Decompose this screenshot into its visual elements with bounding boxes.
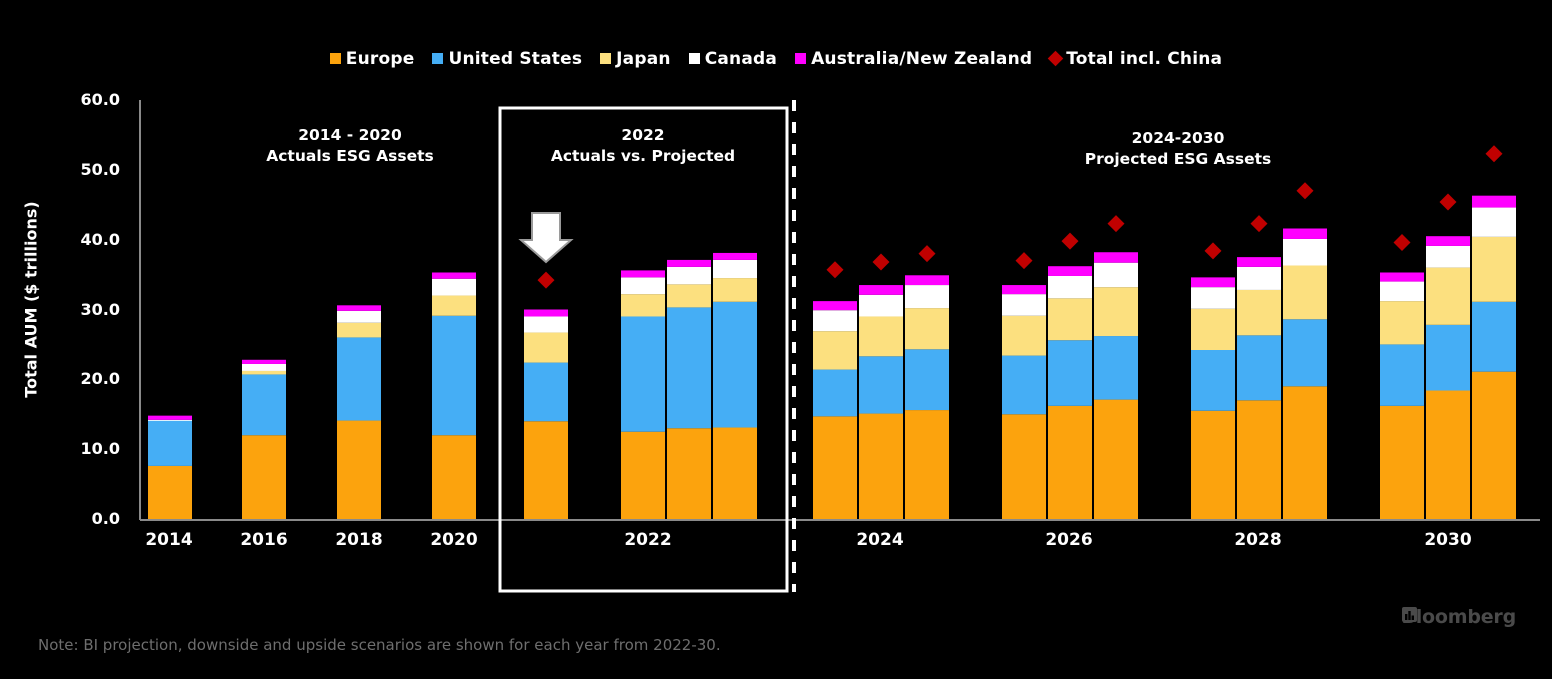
total-incl-china-marker-2024-upside [919, 245, 936, 262]
bar-segment-2030-upside-canada [1472, 208, 1516, 237]
bar-segment-2028-downside-japan [1191, 309, 1235, 350]
total-incl-china-marker-2030-upside [1486, 145, 1503, 162]
annotation-actuals-vs-projected-2022: 2022 Actuals vs. Projected [473, 125, 813, 167]
bar-segment-2018-actual-united-states [337, 337, 381, 420]
bar-segment-2026-downside-europe [1002, 414, 1046, 519]
bar-segment-2022-actual-japan [524, 333, 568, 363]
bar-segment-2028-upside-australia-new-zealand [1283, 228, 1327, 238]
bar-segment-2026-downside-united-states [1002, 356, 1046, 415]
x-tick-2020: 2020 [394, 530, 514, 550]
bar-segment-2028-projection-japan [1237, 290, 1281, 335]
x-tick-2024: 2024 [820, 530, 940, 550]
bar-segment-2030-upside-japan [1472, 237, 1516, 302]
total-incl-china-marker-2026-projection [1062, 233, 1079, 250]
bar-segment-2026-projection-australia-new-zealand [1048, 266, 1092, 276]
bar-segment-2022-upside-canada [713, 260, 757, 278]
bar-segment-2026-downside-japan [1002, 316, 1046, 356]
bar-segment-2022-downside-canada [621, 277, 665, 294]
bar-segment-2022-upside-united-states [713, 302, 757, 428]
bar-segment-2024-downside-canada [813, 310, 857, 331]
x-tick-2030: 2030 [1388, 530, 1508, 550]
bar-segment-2022-actual-canada [524, 316, 568, 332]
bar-segment-2026-projection-europe [1048, 406, 1092, 519]
bar-segment-2026-upside-europe [1094, 400, 1138, 519]
bar-segment-2016-actual-australia-new-zealand [242, 360, 286, 364]
bar-segment-2030-downside-canada [1380, 282, 1424, 302]
bar-segment-2020-actual-japan [432, 296, 476, 316]
y-tick-20.0: 20.0 [10, 369, 120, 388]
bloomberg-watermark: Bloomberg [1401, 606, 1522, 628]
bar-segment-2030-projection-australia-new-zealand [1426, 236, 1470, 246]
total-incl-china-marker-2022-actual [538, 272, 555, 289]
bar-segment-2022-downside-japan [621, 294, 665, 316]
total-incl-china-marker-2024-projection [873, 254, 890, 271]
x-tick-2026: 2026 [1009, 530, 1129, 550]
annotation-projected-2024-2030: 2024-2030 Projected ESG Assets [1008, 128, 1348, 170]
bar-segment-2024-downside-japan [813, 331, 857, 369]
down-arrow-icon [521, 213, 571, 262]
bar-segment-2018-actual-japan [337, 323, 381, 338]
y-tick-0.0: 0.0 [10, 509, 120, 528]
y-tick-40.0: 40.0 [10, 230, 120, 249]
annotation-actuals-2014-2020: 2014 - 2020 Actuals ESG Assets [180, 125, 520, 167]
total-incl-china-marker-2024-downside [827, 261, 844, 278]
bar-segment-2014-actual-australia-new-zealand [148, 416, 192, 420]
total-incl-china-marker-2028-downside [1205, 242, 1222, 259]
bloomberg-wordmark: Bloomberg [1401, 606, 1516, 628]
bar-segment-2030-downside-japan [1380, 301, 1424, 344]
bar-segment-2022-actual-united-states [524, 363, 568, 422]
total-incl-china-marker-2026-upside [1108, 215, 1125, 232]
bar-segment-2024-downside-united-states [813, 370, 857, 417]
bar-segment-2028-projection-europe [1237, 400, 1281, 519]
bar-segment-2026-upside-japan [1094, 287, 1138, 336]
bar-segment-2030-downside-europe [1380, 406, 1424, 519]
bar-segment-2026-downside-australia-new-zealand [1002, 285, 1046, 294]
bar-segment-2028-downside-australia-new-zealand [1191, 277, 1235, 287]
bar-segment-2024-upside-australia-new-zealand [905, 275, 949, 285]
bar-segment-2026-projection-united-states [1048, 340, 1092, 406]
bar-segment-2030-upside-australia-new-zealand [1472, 196, 1516, 208]
bar-segment-2016-actual-united-states [242, 374, 286, 435]
bar-segment-2022-projection-europe [667, 428, 711, 519]
total-incl-china-marker-2028-projection [1251, 215, 1268, 232]
bar-segment-2022-upside-japan [713, 278, 757, 302]
bar-segment-2026-projection-canada [1048, 276, 1092, 298]
bar-segment-2030-downside-australia-new-zealand [1380, 272, 1424, 281]
bar-segment-2016-actual-europe [242, 435, 286, 519]
bar-segment-2022-downside-australia-new-zealand [621, 270, 665, 277]
bar-segment-2024-downside-australia-new-zealand [813, 301, 857, 310]
bar-segment-2026-upside-australia-new-zealand [1094, 252, 1138, 262]
bar-segment-2026-downside-canada [1002, 294, 1046, 316]
bar-segment-2024-upside-japan [905, 308, 949, 349]
bar-segment-2016-actual-japan [242, 371, 286, 374]
bar-segment-2022-downside-europe [621, 432, 665, 519]
bar-segment-2022-actual-australia-new-zealand [524, 310, 568, 317]
bar-segment-2030-projection-united-states [1426, 325, 1470, 391]
bar-segment-2026-projection-japan [1048, 298, 1092, 340]
bar-segment-2024-projection-canada [859, 295, 903, 317]
y-tick-30.0: 30.0 [10, 300, 120, 319]
bar-segment-2022-actual-europe [524, 421, 568, 519]
total-incl-china-marker-2030-downside [1394, 234, 1411, 251]
bar-segment-2024-projection-japan [859, 316, 903, 356]
bar-segment-2028-upside-united-states [1283, 319, 1327, 386]
bar-segment-2022-projection-united-states [667, 307, 711, 428]
bar-segment-2018-actual-australia-new-zealand [337, 305, 381, 311]
x-tick-2028: 2028 [1198, 530, 1318, 550]
bar-segment-2028-upside-japan [1283, 266, 1327, 320]
bar-segment-2024-projection-australia-new-zealand [859, 285, 903, 295]
bar-segment-2022-downside-united-states [621, 316, 665, 431]
bar-segment-2024-projection-europe [859, 414, 903, 519]
total-incl-china-marker-2030-projection [1440, 193, 1457, 210]
bar-segment-2022-projection-canada [667, 267, 711, 284]
bar-segment-2024-downside-europe [813, 416, 857, 519]
bar-segment-2024-upside-europe [905, 410, 949, 519]
bar-segment-2028-projection-united-states [1237, 335, 1281, 400]
bar-segment-2024-upside-canada [905, 285, 949, 308]
bar-segment-2018-actual-canada [337, 311, 381, 323]
bar-segment-2028-downside-canada [1191, 287, 1235, 309]
bar-segment-2028-upside-europe [1283, 386, 1327, 519]
bar-segment-2030-projection-canada [1426, 246, 1470, 268]
bar-segment-2020-actual-europe [432, 435, 476, 519]
bar-segment-2022-projection-japan [667, 284, 711, 307]
bar-segment-2030-projection-japan [1426, 268, 1470, 325]
y-tick-60.0: 60.0 [10, 90, 120, 109]
bar-segment-2024-projection-united-states [859, 356, 903, 413]
chart-canvas: EuropeUnited StatesJapanCanadaAustralia/… [0, 0, 1552, 679]
bar-segment-2014-actual-canada [148, 420, 192, 421]
bar-segment-2026-upside-canada [1094, 263, 1138, 287]
bar-segment-2022-upside-europe [713, 428, 757, 519]
total-incl-china-marker-2028-upside [1297, 182, 1314, 199]
bar-segment-2028-upside-canada [1283, 239, 1327, 266]
bar-segment-2028-projection-australia-new-zealand [1237, 257, 1281, 267]
bar-segment-2020-actual-united-states [432, 316, 476, 435]
chart-plot-area [0, 0, 1552, 679]
bar-segment-2030-upside-europe [1472, 372, 1516, 519]
bar-segment-2028-downside-united-states [1191, 350, 1235, 411]
bar-segment-2022-projection-australia-new-zealand [667, 260, 711, 267]
bar-segment-2030-downside-united-states [1380, 344, 1424, 405]
total-incl-china-marker-2026-downside [1016, 252, 1033, 269]
bar-segment-2018-actual-europe [337, 421, 381, 519]
bar-segment-2016-actual-canada [242, 364, 286, 371]
bar-segment-2014-actual-united-states [148, 421, 192, 466]
bar-segment-2028-projection-canada [1237, 267, 1281, 290]
bar-segment-2028-downside-europe [1191, 411, 1235, 519]
bar-segment-2022-upside-australia-new-zealand [713, 253, 757, 260]
bar-segment-2024-upside-united-states [905, 349, 949, 410]
y-tick-50.0: 50.0 [10, 160, 120, 179]
y-tick-10.0: 10.0 [10, 439, 120, 458]
bar-segment-2014-actual-europe [148, 466, 192, 519]
bar-segment-2030-upside-united-states [1472, 302, 1516, 372]
bar-segment-2030-projection-europe [1426, 391, 1470, 519]
chart-note: Note: BI projection, downside and upside… [38, 636, 721, 654]
bar-segment-2020-actual-canada [432, 279, 476, 296]
bar-segment-2026-upside-united-states [1094, 336, 1138, 400]
bar-segment-2020-actual-australia-new-zealand [432, 272, 476, 278]
x-tick-2022: 2022 [588, 530, 708, 550]
